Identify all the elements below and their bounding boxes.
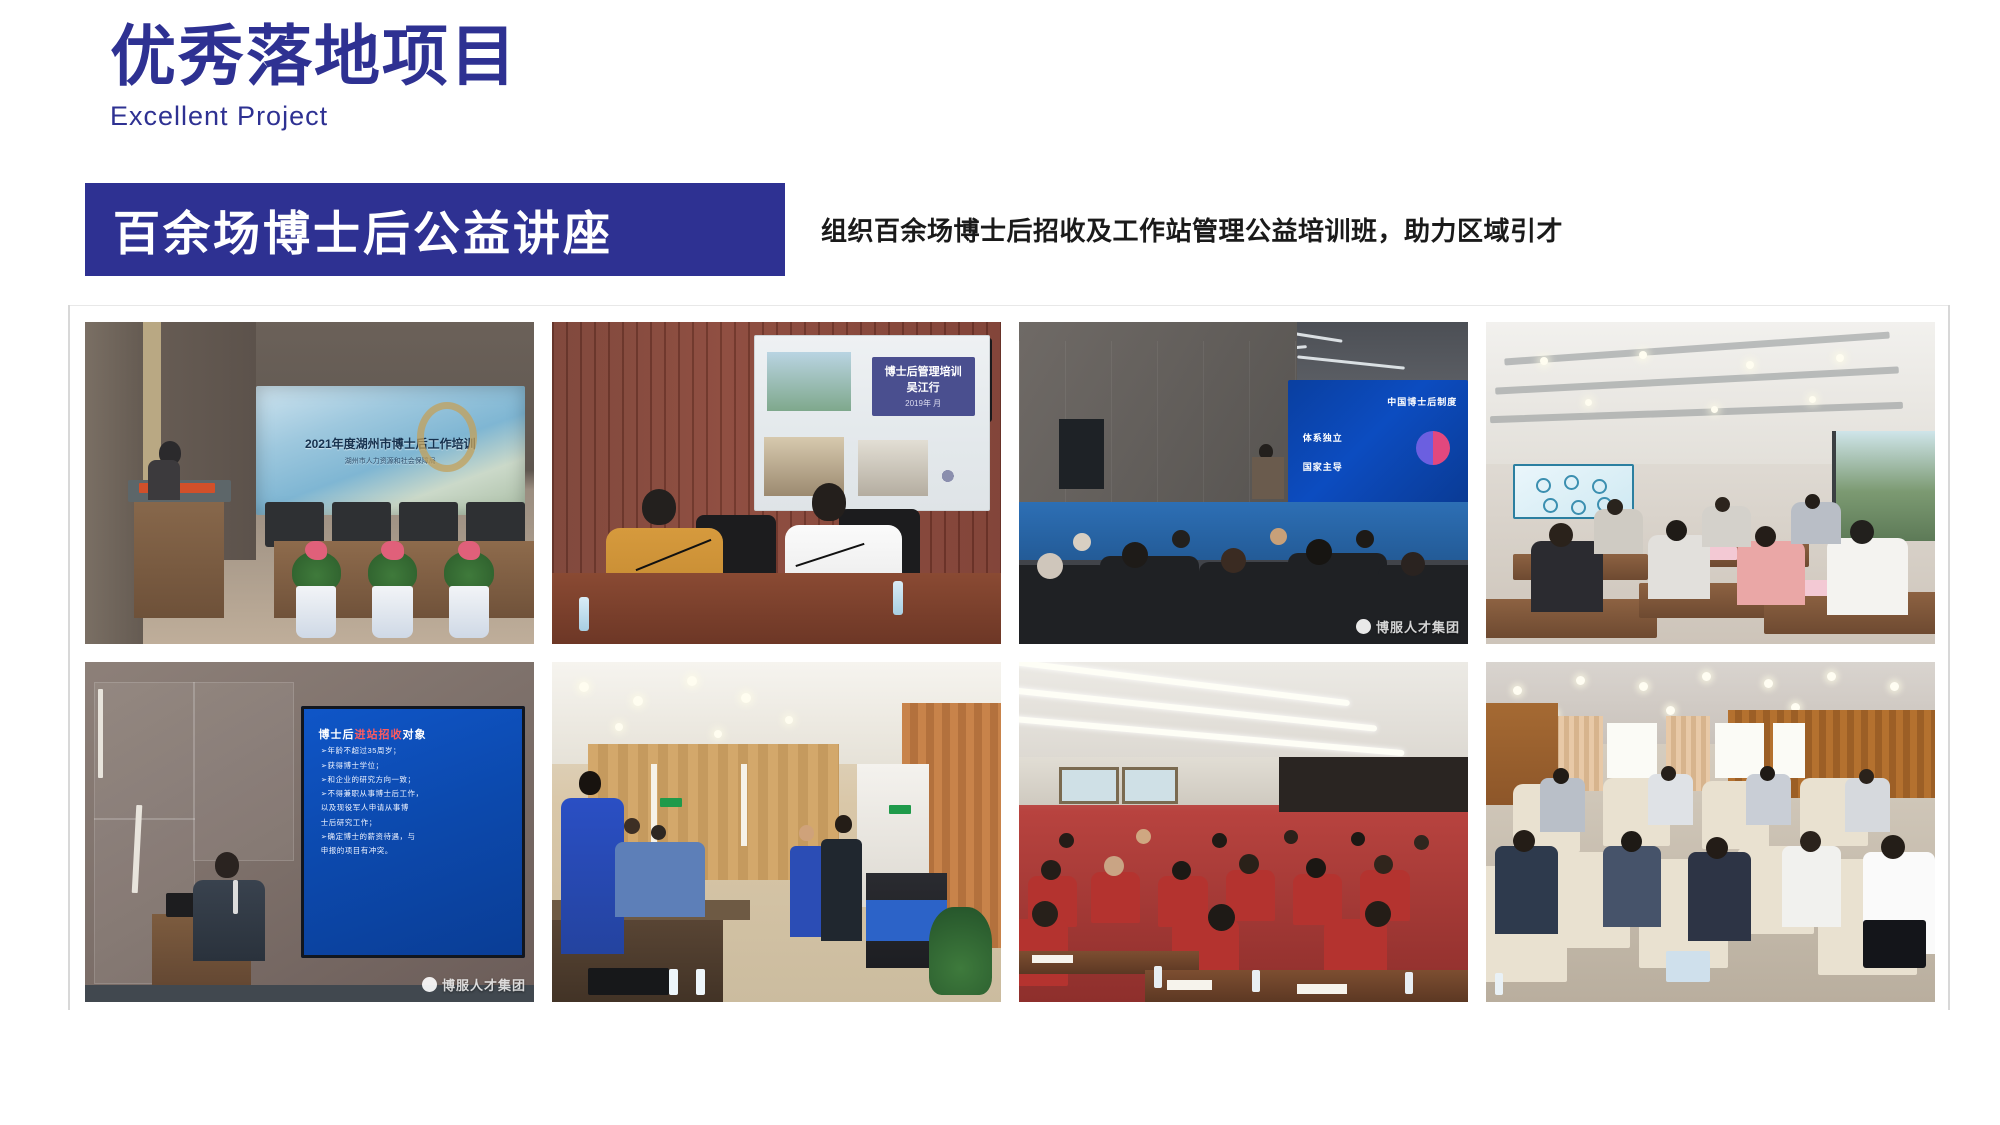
photo-1-led-screen: 2021年度湖州市博士后工作培训 湖州市人力资源和社会保障局 [256,386,525,515]
photo-5-watermark: 博服人才集团 [422,975,526,994]
wechat-icon [1356,619,1371,634]
banner-row: 百余场博士后公益讲座 组织百余场博士后招收及工作站管理公益培训班，助力区域引才 [85,183,1563,276]
photo-5-bullet-2: ➢和企业的研究方向一致； [321,774,416,785]
photo-6-presenter [579,771,601,795]
photo-1-podium [134,489,224,618]
photo-5-bullet-5: 士后研究工作； [321,817,377,828]
photo-3-blue-screen: 中国博士后制度 体系独立 国家主导 [1288,380,1468,509]
wechat-icon [422,977,437,992]
photo-5-bullet-7: 申报的项目有冲突。 [321,845,393,856]
photo-5-blue-screen: 博士后进站招收对象 ➢年龄不超过35周岁； ➢获得博士学位； ➢和企业的研究方向… [301,706,526,958]
banner-description: 组织百余场博士后招收及工作站管理公益培训班，助力区域引才 [821,211,1563,248]
gallery-photo-7[interactable] [1019,662,1468,1002]
divider-left [68,305,70,1010]
photo-2-screen-date: 2019年 月 [905,398,941,409]
photo-5-bullet-4: 以及现役军人申请从事博 [321,802,409,813]
photo-3-screen-title: 中国博士后制度 [1387,395,1457,408]
photo-6-person-c [835,815,852,833]
photo-4-window [1832,431,1935,540]
photo-2-screen-subtext: 吴江行 [907,379,940,395]
gallery-photo-6[interactable] [552,662,1001,1002]
photo-3-watermark: 博服人才集团 [1356,617,1460,636]
gallery-photo-2[interactable]: 博士后管理培训 吴江行 2019年 月 [552,322,1001,644]
photo-2-projection-screen: 博士后管理培训 吴江行 2019年 月 [754,335,989,511]
photo-3-screen-line-2: 国家主导 [1303,460,1343,473]
photo-5-speaker [215,852,239,878]
gallery-photo-5[interactable]: 博士后进站招收对象 ➢年龄不超过35周岁； ➢获得博士学位； ➢和企业的研究方向… [85,662,534,1002]
photo-5-bullet-3: ➢不得兼职从事博士后工作， [321,788,424,799]
gallery-photo-1[interactable]: 2021年度湖州市博士后工作培训 湖州市人力资源和社会保障局 [85,322,534,644]
divider-top [68,305,1950,306]
section-banner: 百余场博士后公益讲座 [85,183,785,276]
page-title: 优秀落地项目 [110,22,518,91]
photo-5-bullet-0: ➢年龄不超过35周岁； [321,745,401,756]
gallery-photo-4[interactable] [1486,322,1935,644]
photo-6-person-b [799,825,814,841]
photo-5-bullet-6: ➢确定博士的薪资待遇，与 [321,831,416,842]
divider-right [1948,305,1950,1010]
photo-2-person-right [812,483,846,521]
photo-2-person-left [642,489,676,525]
page-subtitle: Excellent Project [110,101,518,132]
photo-7-audience [1019,805,1468,1002]
slide-header: 优秀落地项目 Excellent Project [110,22,518,132]
photo-5-bullet-1: ➢获得博士学位； [321,760,384,771]
photo-3-screen-line-1: 体系独立 [1303,431,1343,444]
slide-root: 优秀落地项目 Excellent Project 百余场博士后公益讲座 组织百余… [0,0,2000,1125]
photo-gallery: 2021年度湖州市博士后工作培训 湖州市人力资源和社会保障局 [85,322,1935,1002]
banner-label: 百余场博士后公益讲座 [113,195,613,264]
photo-2-screen-text: 博士后管理培训 [885,363,962,379]
photo-5-screen-title: 博士后进站招收对象 [318,726,426,742]
gallery-photo-8[interactable] [1486,662,1935,1002]
gallery-photo-3[interactable]: 中国博士后制度 体系独立 国家主导 [1019,322,1468,644]
